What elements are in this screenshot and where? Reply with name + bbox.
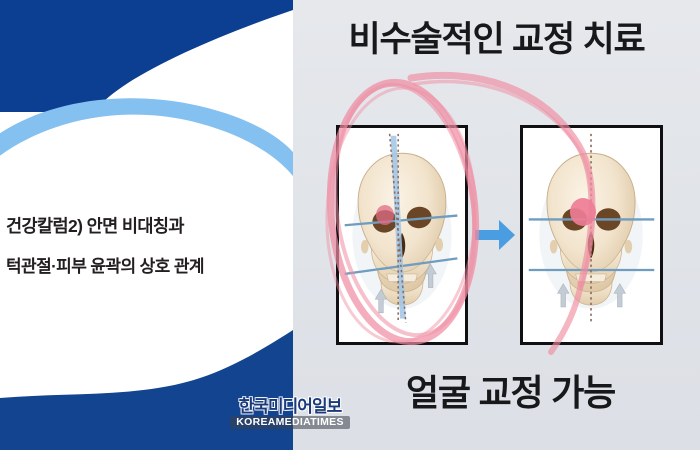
left-panel: 건강칼럼2) 안면 비대칭과 턱관절·피부 윤곽의 상호 관계 <box>0 0 293 450</box>
watermark-korean-text: 한국미디어일보 <box>230 398 350 415</box>
blue-wave-bottom-shape <box>0 330 293 450</box>
right-panel: 비수술적인 교정 치료 <box>293 0 700 450</box>
left-panel-title: 건강칼럼2) 안면 비대칭과 턱관절·피부 윤곽의 상호 관계 <box>0 218 293 275</box>
transition-arrow <box>473 215 517 255</box>
heading-top: 비수술적인 교정 치료 <box>293 22 700 57</box>
watermark-english-text: KOREAMEDIATIMES <box>230 416 350 429</box>
heading-bottom: 얼굴 교정 가능 <box>293 375 700 411</box>
skull-before-illustration <box>339 128 465 342</box>
light-blue-arc-shape <box>0 98 293 194</box>
skull-after-illustration <box>523 128 660 342</box>
watermark: 한국미디어일보 KOREAMEDIATIMES <box>230 398 350 429</box>
skull-image-after <box>520 125 663 345</box>
news-thumbnail-card: 건강칼럼2) 안면 비대칭과 턱관절·피부 윤곽의 상호 관계 비수술적인 교정… <box>0 0 700 450</box>
left-title-line-2: 턱관절·피부 윤곽의 상호 관계 <box>6 258 293 275</box>
left-title-line-1: 건강칼럼2) 안면 비대칭과 <box>6 218 293 236</box>
arrow-right-icon <box>473 215 517 255</box>
skull-image-before <box>336 125 468 345</box>
